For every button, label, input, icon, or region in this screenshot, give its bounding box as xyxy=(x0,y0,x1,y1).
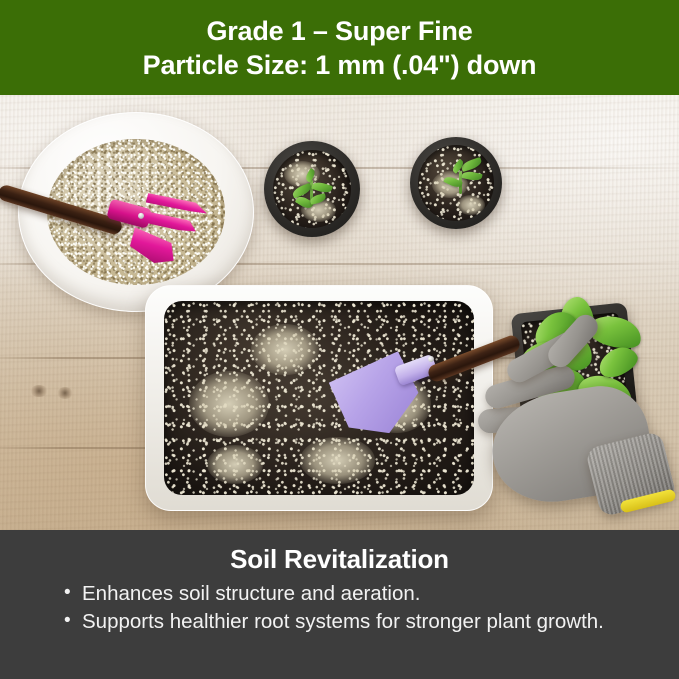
large-rectangular-tub xyxy=(145,285,493,511)
cultivator-tine xyxy=(127,224,183,271)
product-infographic: Grade 1 – Super Fine Particle Size: 1 mm… xyxy=(0,0,679,679)
vermiculite-patch xyxy=(251,324,319,375)
header-banner: Grade 1 – Super Fine Particle Size: 1 mm… xyxy=(0,0,679,95)
wood-knot xyxy=(57,387,73,399)
list-item: Enhances soil structure and aeration. xyxy=(64,580,639,607)
wood-knot xyxy=(30,385,48,397)
vermiculite-patch xyxy=(457,195,484,215)
vermiculite-patch xyxy=(189,371,270,437)
pot-soil xyxy=(418,145,493,220)
footer-panel: Soil Revitalization Enhances soil struct… xyxy=(0,530,679,679)
white-mixing-bowl xyxy=(18,112,254,312)
header-title-line-1: Grade 1 – Super Fine xyxy=(206,14,472,48)
pot-soil xyxy=(273,150,352,229)
header-title-line-2: Particle Size: 1 mm (.04") down xyxy=(143,48,537,82)
footer-title: Soil Revitalization xyxy=(40,542,639,576)
product-photo xyxy=(0,95,679,530)
round-pot-left xyxy=(264,141,360,237)
benefit-list: Enhances soil structure and aeration. Su… xyxy=(40,580,639,635)
vermiculite-patch xyxy=(300,437,374,484)
vermiculite-patch xyxy=(207,445,263,484)
list-item: Supports healthier root systems for stro… xyxy=(64,608,639,635)
round-pot-right xyxy=(410,137,502,229)
gray-gardening-glove xyxy=(470,327,679,527)
